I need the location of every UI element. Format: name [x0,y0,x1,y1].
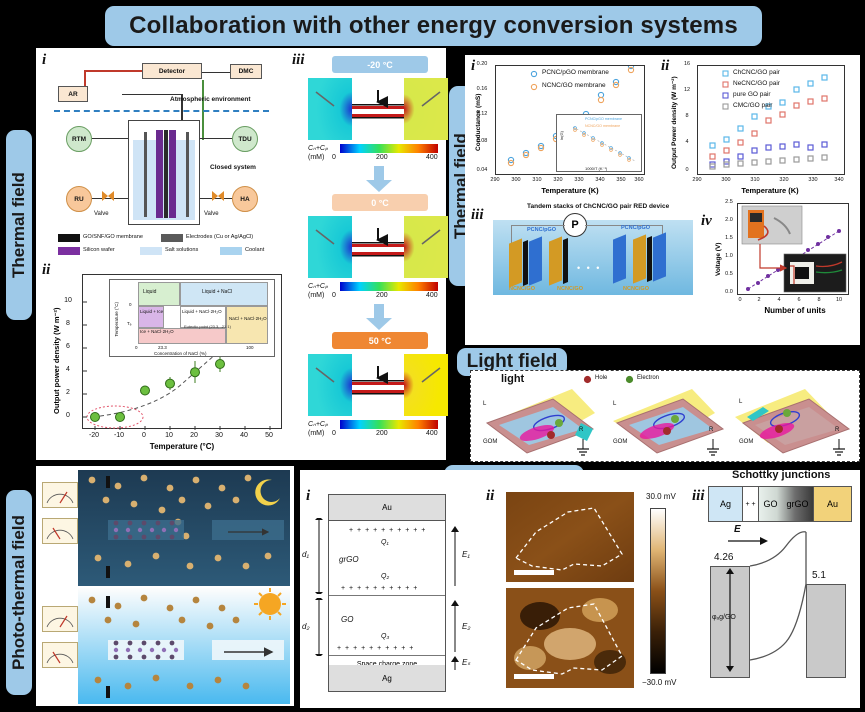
wire-ar-detector [84,70,142,72]
sim-colorbar-tick-400-2: 400 [426,292,438,299]
layer-divider-1 [329,595,445,596]
gom-label-L-3: L [739,399,742,405]
sim-colorbar-unit-3: (mM) [308,430,324,437]
wire-ar-probe [122,94,182,95]
tandem-title: Tandem stacks of ChCNC/GO pair RED devic… [527,203,669,210]
chart-iv-y-tick-25: 2.5 [721,199,737,205]
chart-ii-legend-cmc: CMC/GO pair [733,102,772,109]
chart-iv-x-tick-10: 10 [834,297,844,303]
sim-colorbar-unit-2: (mM) [308,292,324,299]
sim-colorbar-unit-1: (mM) [308,154,324,161]
charge-row-2: + + + + + + + + + + [341,585,418,592]
electrode-left [144,132,147,217]
region-label-liquid-nacl2h2o: Liquid + NaCl·2H₂O [182,309,222,315]
chart-i-x-tick-350: 350 [613,177,629,183]
schottky-layer-ag: Ag [709,487,743,521]
afm-colorbar-bottom-label: −30.0 mV [642,678,676,687]
tandem-top-label-1: PCNC/pGO [527,227,556,233]
layer-stack: Au + + + + + + + + + + Q₁ grGO Q₂ + + + … [328,494,446,692]
field-arrow-es [450,656,460,672]
photothermal-scene-day [78,588,290,704]
schottky-layer-grgo: grGO [786,499,808,509]
gom-label-R-2: R [709,427,713,433]
chart-y-tick-4: 4 [58,366,78,373]
thickness-arrow-d2 [312,598,326,656]
panel-marker-ii-phys: ii [486,488,494,505]
layer-go: GO [341,615,353,624]
chart-iv-y-axis-title: Voltage (V) [715,223,725,295]
meter-current-day [42,642,78,668]
sim-colorbar-gradient-3 [340,420,438,429]
label-eutectic-point: Eutectic point (23.3, -21.1) [184,324,231,329]
chart-i-y-tick-008: 0.08 [469,138,495,144]
tandem-bottom-label-1: NCNC/GO [509,286,535,292]
thickness-label-d2: d₂ [302,622,310,631]
layer-ag: Ag [329,665,445,691]
panel-marker-iii-right: iii [471,207,484,224]
node-tdu: TDU [232,126,258,152]
legend-label-coolant: Coolant [245,247,264,253]
chart-iv-x-tick-4: 4 [774,297,784,303]
region-label-liquid-nacl: Liquid + NaCl [202,289,232,295]
wire-rtm [92,138,128,139]
chart-x-tick--20: -20 [84,432,104,439]
meter-current-night [42,518,78,544]
legend-swatch-salt [140,247,162,255]
chart-ii-legend-necnc: NeCNC/GO pair [733,80,780,87]
chart-i-inset-arrhenius: PCNC/pGO membrane NCNC/GO membrane ln(G)… [556,114,642,172]
gom-diagram-2 [607,387,729,459]
chart-iv-y-tick-05: 0.5 [721,271,737,277]
electrode-right [186,132,189,217]
field-arrow-e2 [450,600,460,654]
inset-y-tick-te: Tₑ [127,321,131,326]
moon-icon [255,479,280,505]
node-rtm: RTM [66,126,92,152]
chart-iv-svg [738,204,850,296]
meter-voltage-day [42,606,78,632]
chart-iv-y-tick-20: 2.0 [721,217,737,223]
flow-arrow-1 [366,166,392,192]
panel-marker-i: i [42,52,46,69]
schottky-title: Schottky junctions [732,469,830,481]
panel-physical-field: i Au + + + + + + + + + + Q₁ grGO Q₂ + + … [300,470,860,708]
barrier-arrow [724,568,736,674]
legend-label-electrodes: Electrodes (Cu or Ag/AgCl) [186,234,253,240]
light-legend-electron: Electron [637,375,659,381]
chart-ii-legend-chcnc: ChCNC/GO pair [733,69,780,76]
chart-i-legend-pcnc: PCNC/pGO membrane [542,69,609,76]
panel-marker-i-phys: i [306,488,310,505]
sim-field-image-2 [308,216,448,278]
chart-y-tick-10: 10 [58,297,78,304]
chart-x-tick-30: 30 [209,432,229,439]
gom-label-R-3: R [835,427,839,433]
legend-swatch-coolant [220,247,242,255]
label-atmospheric-environment: Atmospheric environment [170,96,251,103]
chart-x-tick-10: 10 [159,432,179,439]
region-label-liquid: Liquid [143,289,156,295]
section-label-photo-thermal-field: Photo-thermal field [6,490,32,695]
sim-colorbar-tick-200-1: 200 [376,154,388,161]
thickness-arrow-d1 [312,518,326,594]
work-function-right: 5.1 [812,570,826,581]
chart-ii-x-axis-title: Temperature (K) [715,186,825,195]
sim-field-image-3 [308,354,448,416]
chart-iv-x-tick-2: 2 [754,297,764,303]
chart-x-tick-40: 40 [234,432,254,439]
legend-label-silicon: Silicon wafer [83,247,115,253]
chart-ii-x-tick-290: 290 [689,177,705,183]
chart-y-tick-6: 6 [58,343,78,350]
chart-x-tick-50: 50 [259,432,279,439]
silicon-wafer-left [156,130,163,218]
chart-y-tick-0: 0 [58,412,78,419]
inset-y-axis-title: Temperature (°C) [114,302,119,337]
gom-diagram-3 [733,387,855,459]
chart-i-y-tick-012: 0.12 [469,111,495,117]
node-dmc: DMC [230,64,262,79]
afm-colorbar-top-label: 30.0 mV [646,492,676,501]
node-ru: RU [66,186,92,212]
chart-iv-x-tick-6: 6 [794,297,804,303]
page-title: Collaboration with other energy conversi… [105,6,762,46]
legend-swatch-membrane [58,234,80,242]
chart-x-axis-title: Temperature (°C) [112,442,252,451]
wire-detector-dmc [201,72,231,73]
inset-x-title: 1000/T (K⁻¹) [585,166,607,171]
chart-y-tick-2: 2 [58,389,78,396]
sim-colorbar-tick-400-3: 400 [426,430,438,437]
chart-i-x-tick-320: 320 [550,177,566,183]
tandem-plate-au-3 [633,234,646,283]
meter-voltage-night [42,482,78,508]
gom-label-material-1: GOM [483,439,497,445]
chart-ii-y-axis-title: Output Power density (W m⁻²) [671,69,681,177]
charge-q1: Q₁ [381,539,389,546]
region-nacl-nacl2h2o [226,306,268,344]
thickness-label-d1: d₁ [302,550,309,559]
inset-legend-ncnc: NCNC/GO membrane [585,124,620,128]
panel-marker-iv: iv [701,213,712,230]
tandem-plate-blue-3 [653,232,666,281]
panel-photo-thermal-field [36,466,294,706]
tandem-bottom-label-3: NCNC/GO [623,286,649,292]
inset-x-tick-100: 100 [246,345,254,350]
tandem-plate-dark-3 [647,236,652,282]
chart-iv-x-tick-8: 8 [814,297,824,303]
schottky-field-label: E [734,524,741,535]
chart-i-plot-area: PCNC/pGO membrane NCNC/GO membrane PCNC/… [495,65,645,175]
electron-icon [625,375,634,384]
legend-label-salt: Salt solutions [165,247,198,253]
schottky-layer-au: Au [813,487,851,521]
chart-ii-x-tick-340: 340 [831,177,847,183]
night-scene-svg [78,470,290,586]
membrane [164,130,168,218]
afm-colorbar [650,508,666,674]
tandem-plate-blue-2 [613,234,626,283]
chart-ii-y-tick-4: 4 [679,139,695,145]
sun-icon [259,593,281,615]
chart-iv-plot-area [737,203,849,295]
inset-x-tick-233: 23.3 [158,345,167,350]
legend-swatch-electrodes [161,234,183,242]
gom-label-material-2: GOM [613,439,627,445]
charge-q3: Q₃ [381,633,389,640]
chart-iv-y-tick-10: 1.0 [721,253,737,259]
section-label-thermal-field-left: Thermal field [6,130,32,320]
chart-iv-x-axis-title: Number of units [745,306,845,315]
chart-ii-x-tick-310: 310 [747,177,763,183]
chart-ii-y-tick-16: 16 [679,61,695,67]
gom-label-L-2: L [613,401,616,407]
tandem-top-label-2: PCNC/pGO [621,225,650,231]
label-valve-right: Valve [204,211,219,217]
sim-colorbar-gradient-1 [340,144,438,153]
tandem-plate-blue-1 [529,236,542,285]
gom-label-material-3: GOM [739,439,753,445]
flow-arrow-2 [366,304,392,330]
inset-y-title: ln(G) [559,131,564,140]
wire-tdu [200,138,232,139]
legend-swatch-silicon [58,247,80,255]
layer-grgo: grGO [339,555,359,564]
node-ha: HA [232,186,258,212]
hole-icon [583,375,592,384]
charge-q2: Q₂ [381,573,389,580]
schottky-layer-go: GO [763,499,777,509]
sim-colorbar-tick-0-2: 0 [332,292,336,299]
chart-ii-x-tick-330: 330 [805,177,821,183]
chart-ii-x-tick-300: 300 [718,177,734,183]
barrier-label: φₐg/GO [712,614,736,621]
chart-i-x-tick-310: 310 [529,177,545,183]
tandem-plate-au-1 [509,238,522,287]
chart-i-x-tick-290: 290 [487,177,503,183]
label-valve-left: Valve [94,211,109,217]
sim-colorbar-tick-0-1: 0 [332,154,336,161]
node-ar: AR [58,86,88,102]
field-arrow-e1 [450,526,460,588]
field-label-e1: E₁ [462,550,470,559]
sim-colorbar-tick-0-3: 0 [332,430,336,437]
schottky-layer-go-grgo: GO grGO [759,487,813,521]
region-label-nacl-nacl2h2o: NaCl + NaCl·2H₂O [229,316,267,322]
sim-field-image-1 [308,78,448,140]
gom-label-R-1: R [579,427,583,433]
chart-i-y-tick-004: 0.04 [469,167,495,173]
layer-au: Au [329,495,445,521]
chart-ii-y-tick-12: 12 [679,87,695,93]
valve-icon-right-b [218,191,224,201]
region-label-ice-nacl2h2o: Ice + NaCl·2H₂O [140,329,174,335]
tandem-plate-dark-2 [563,238,568,284]
charge-row-3: + + + + + + + + + + [337,645,414,652]
legend-label-membrane: GO/SNF/GO membrane [83,234,143,240]
chart-i-x-tick-300: 300 [508,177,524,183]
inset-legend-pcnc: PCNC/pGO membrane [585,117,622,121]
chart-i-legend-ncnc: NCNC/GO membrane [542,82,606,89]
chart-i-x-axis-title: Temperature (K) [515,186,625,195]
chart-i-y-tick-016: 0.16 [469,86,495,92]
chart-ii-y-tick-0: 0 [679,167,695,173]
band-block-right [806,584,846,678]
field-label-e2: E₂ [462,622,470,631]
inset-x-axis-title: Concentration of NaCl (%) [154,351,207,356]
tandem-wire-left [511,225,565,226]
gom-label-L-1: L [483,401,486,407]
chart-ii-x-tick-320: 320 [776,177,792,183]
schottky-charges: + + [743,487,759,521]
valve-icon-left-b [108,191,114,201]
sim-colorbar-tick-200-2: 200 [376,292,388,299]
work-function-left: 4.26 [714,552,733,563]
chart-i-x-tick-340: 340 [592,177,608,183]
band-bending-curves [748,528,808,680]
chart-y-tick-8: 8 [58,320,78,327]
divider-atmosphere [54,110,269,112]
light-legend-hole: Hole [595,375,607,381]
sim-colorbar-symbol-2: Cₙ+Cₚ [308,282,328,290]
charge-row-1: + + + + + + + + + + [349,527,426,534]
afm-image-kpfm [506,588,634,688]
panel-thermal-field-right: i Conductance (mS) PCNC/pGO membrane NCN… [465,55,860,345]
inset-x-tick-0: 0 [135,345,138,350]
panel-marker-iii: iii [292,52,305,69]
chart-ii-legend-purego: pure GO pair [733,91,771,98]
chart-x-tick-20: 20 [184,432,204,439]
panel-marker-ii: ii [42,262,50,279]
chart-iv-x-tick-0: 0 [735,297,745,303]
label-closed-system: Closed system [210,164,256,171]
sim-temperature-bar-2: 0 °C [332,194,428,211]
sim-temperature-bar-1: -20 °C [332,56,428,73]
field-label-es: Eₛ [462,658,470,667]
sim-temperature-bar-3: 50 °C [332,332,428,349]
region-label-liquid-ice: Liquid + Ice [140,309,163,315]
tandem-ellipsis: • • • [577,263,601,273]
panel-marker-iii-phys: iii [692,488,705,505]
sim-colorbar-symbol-1: Cₙ+Cₚ [308,144,328,152]
schottky-stack: Ag + + GO grGO Au [708,486,852,522]
tandem-plate-dark-1 [523,240,528,286]
inset-y-tick-0: 0 [129,302,132,307]
sim-colorbar-tick-400-1: 400 [426,154,438,161]
gom-diagram-1 [477,387,599,459]
tandem-bottom-label-2: NCNC/GO [557,286,583,292]
chart-i-x-tick-360: 360 [631,177,647,183]
tandem-plate-au-2 [549,236,562,285]
chart-x-tick--10: -10 [109,432,129,439]
chart-ii-y-tick-8: 8 [679,113,695,119]
chart-x-tick-0: 0 [134,432,154,439]
chart-iv-y-tick-15: 1.5 [721,235,737,241]
sim-colorbar-gradient-2 [340,282,438,291]
sim-colorbar-tick-200-3: 200 [376,430,388,437]
chart-iv-y-tick-00: 0.0 [721,289,737,295]
chart-inset-phase-diagram: Liquid Liquid + NaCl Liquid + Ice Liquid… [109,279,275,357]
chart-plot-area: Liquid Liquid + NaCl Liquid + Ice Liquid… [82,274,282,429]
light-source-label: light [501,373,524,385]
tandem-meter-P: P [563,213,587,237]
day-scene-svg [78,588,290,704]
photothermal-scene-night [78,470,290,586]
panel-marker-ii-right: ii [661,58,669,75]
sim-colorbar-symbol-3: Cₙ+Cₚ [308,420,328,428]
silicon-wafer-right [169,130,176,218]
chart-ii-plot-area: ChCNC/GO pair NeCNC/GO pair pure GO pair… [697,65,845,175]
afm-image-topography [506,492,634,582]
chart-i-y-tick-020: 0.20 [469,61,495,67]
chart-i-x-tick-330: 330 [571,177,587,183]
panel-thermal-field-left: i Detector DMC AR Atmospheric environmen… [36,48,446,460]
node-detector: Detector [142,63,202,79]
panel-light-field: light Hole Electron L R GOM L R GOM [470,370,860,462]
